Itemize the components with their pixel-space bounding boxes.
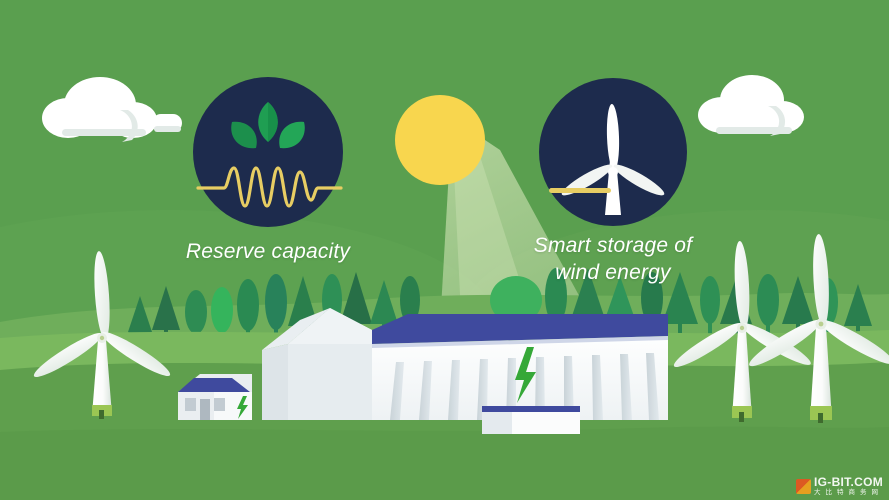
ground-foreground — [0, 427, 889, 500]
house-window — [185, 398, 196, 411]
substation-platform — [482, 406, 580, 434]
gold-bar-icon — [549, 188, 611, 193]
turbine-door — [99, 410, 104, 419]
badge-reserve-capacity — [193, 77, 343, 227]
watermark-subtitle: 大 比 特 商 务 网 — [814, 490, 883, 497]
house-window — [214, 398, 225, 411]
turbine-door — [818, 413, 823, 423]
substation-body-shade — [482, 412, 512, 434]
substation-roof — [482, 406, 580, 412]
energy-storage-plant — [262, 308, 668, 420]
watermark-domain: IG-BIT.COM — [814, 476, 883, 488]
badge-caption-reserve-capacity: Reserve capacity — [168, 238, 368, 265]
sun — [395, 95, 485, 185]
landscape-svg — [0, 0, 889, 500]
ig-bit-watermark: IG-BIT.COM 大 比 特 商 务 网 — [796, 476, 883, 496]
watermark-logo-icon — [796, 479, 811, 494]
badge-smart-storage — [539, 78, 687, 226]
plant-wall-left — [262, 344, 288, 420]
badge-caption-smart-storage: Smart storage of wind energy — [513, 232, 713, 286]
turbine-door — [739, 412, 744, 422]
cloud-left-small — [152, 114, 182, 132]
illustration-canvas: Reserve capacity Smart storage of wind e… — [0, 0, 889, 500]
house-door — [200, 399, 210, 420]
